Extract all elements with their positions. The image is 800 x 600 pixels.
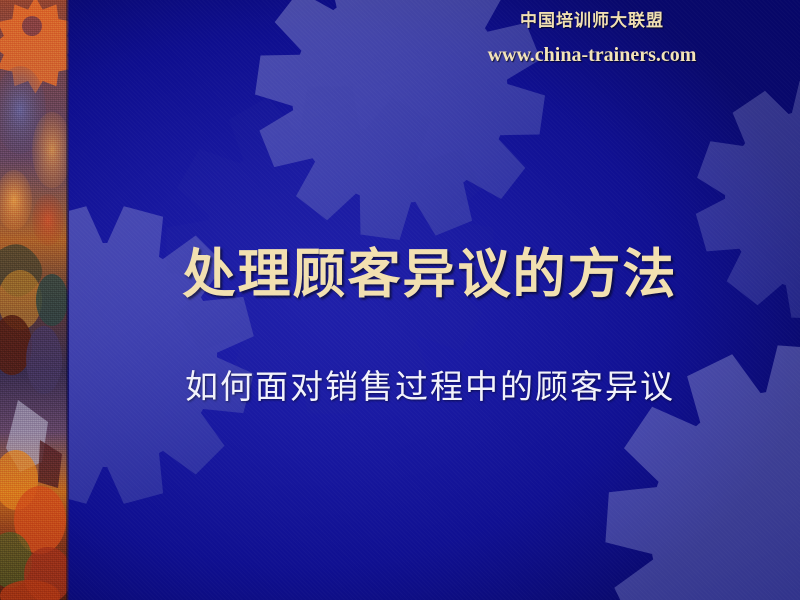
organization-name: 中国培训师大联盟 [400,8,784,34]
slide-title: 处理顾客异议的方法 [70,232,790,308]
slide-subtitle: 如何面对销售过程中的顾客异议 [70,360,790,408]
header-branding: 中国培训师大联盟 www.china-trainers.com [400,8,784,70]
strip-texture-overlay [0,0,69,600]
left-decorative-strip [0,0,69,600]
strip-right-edge [66,0,69,600]
website-url: www.china-trainers.com [400,40,784,70]
presentation-slide: 中国培训师大联盟 www.china-trainers.com 处理顾客异议的方… [0,0,800,600]
